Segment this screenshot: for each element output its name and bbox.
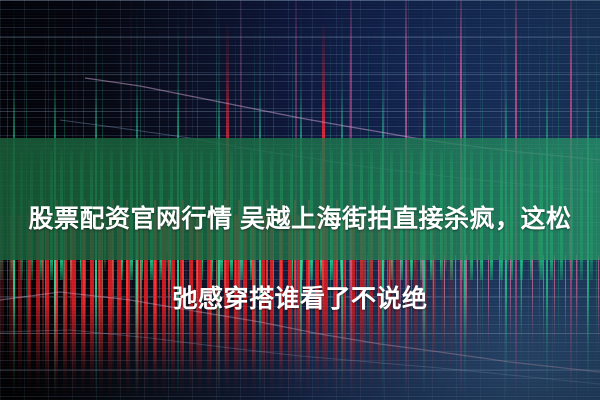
headline-line-1: 股票配资官网行情 吴越上海街拍直接杀疯，这松 [0,199,600,239]
headline-text: 股票配资官网行情 吴越上海街拍直接杀疯，这松 弛感穿搭谁看了不说绝 [0,159,600,359]
headline-line-2: 弛感穿搭谁看了不说绝 [0,279,600,319]
screenshot-root: 股票配资官网行情 吴越上海街拍直接杀疯，这松 弛感穿搭谁看了不说绝 [0,0,600,400]
